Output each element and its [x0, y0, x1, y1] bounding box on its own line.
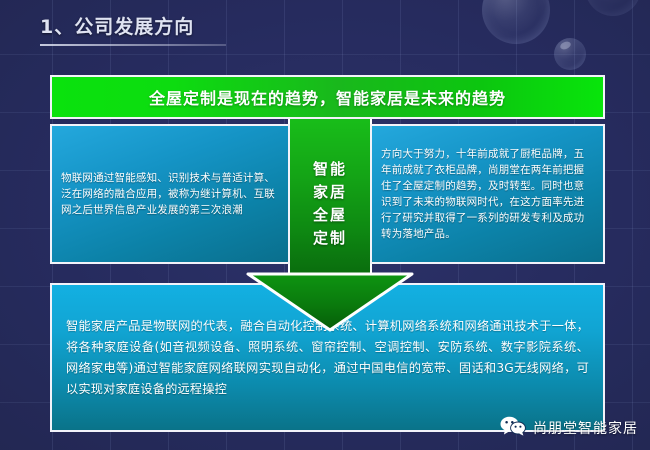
down-arrow-icon — [246, 272, 414, 332]
left-content-box: 物联网通过智能感知、识别技术与普适计算、泛在网络的融合应用，被称为继计算机、互联… — [50, 124, 290, 264]
arrow-label-line-4: 定制 — [288, 227, 372, 250]
slide-canvas: 1、公司发展方向 智能 家居 全屋 定制 全屋定制是现在的趋势，智能家居是未来的… — [0, 0, 650, 450]
watermark: 尚朋堂智能家居 — [496, 414, 642, 442]
arrow-label-line-3: 全屋 — [288, 204, 372, 227]
arrow-label-line-1: 智能 — [288, 158, 372, 181]
right-content-box: 方向大于努力，十年前成就了厨柜品牌，五年前成就了衣柜品牌，尚朋堂在两年前把握住了… — [370, 124, 605, 264]
title-underline — [40, 44, 226, 46]
right-content-text: 方向大于努力，十年前成就了厨柜品牌，五年前成就了衣柜品牌，尚朋堂在两年前把握住了… — [372, 146, 603, 242]
page-title: 1、公司发展方向 — [40, 12, 194, 39]
headline-banner: 全屋定制是现在的趋势，智能家居是未来的趋势 — [50, 75, 605, 119]
decorative-bubble-small-icon — [554, 38, 586, 70]
arrow-label-line-2: 家居 — [288, 181, 372, 204]
headline-banner-text: 全屋定制是现在的趋势，智能家居是未来的趋势 — [149, 85, 506, 109]
watermark-text: 尚朋堂智能家居 — [533, 418, 638, 438]
wechat-icon — [500, 416, 526, 440]
center-arrow-label: 智能 家居 全屋 定制 — [288, 158, 372, 250]
left-content-text: 物联网通过智能感知、识别技术与普适计算、泛在网络的融合应用，被称为继计算机、互联… — [52, 170, 288, 218]
